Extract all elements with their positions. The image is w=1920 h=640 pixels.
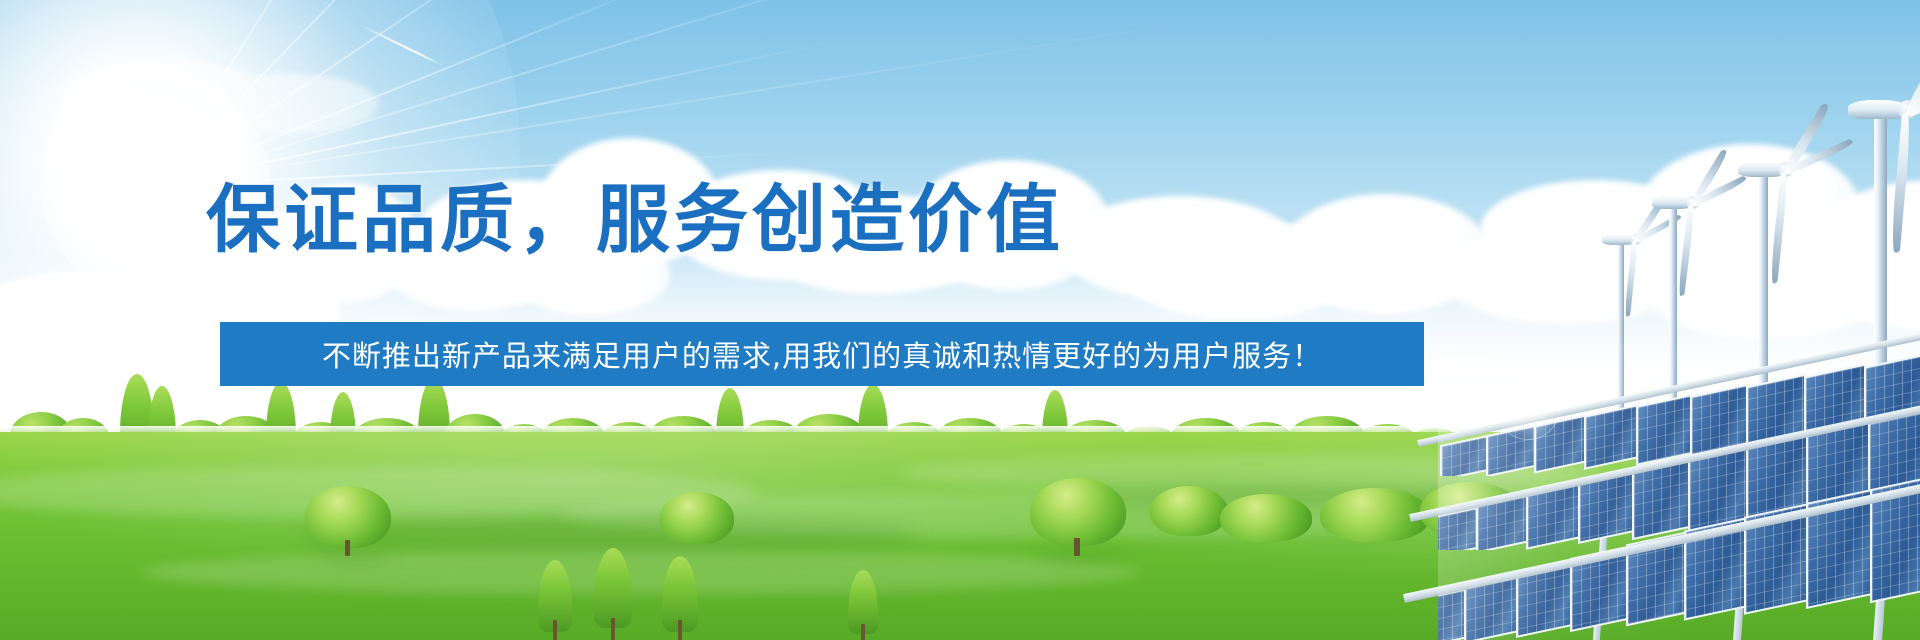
subtitle-text: 不断推出新产品来满足用户的需求,用我们的真诚和热情更好的为用户服务！ [322, 333, 1322, 375]
field-shrub [1220, 494, 1312, 542]
subtitle-bar: 不断推出新产品来满足用户的需求,用我们的真诚和热情更好的为用户服务！ [220, 322, 1424, 386]
field-tree-trunk [345, 540, 350, 556]
grass-field [0, 432, 1920, 640]
field-tree [305, 486, 391, 548]
sapling-trunk [678, 620, 682, 640]
sapling-trunk [553, 620, 557, 640]
hero-banner: 保证品质，服务创造价值 不断推出新产品来满足用户的需求,用我们的真诚和热情更好的… [0, 0, 1920, 640]
field-shrub [660, 492, 734, 544]
field-shrub [1420, 482, 1520, 538]
field-tree [1030, 478, 1126, 546]
sapling-trunk [861, 624, 865, 640]
page-title: 保证品质，服务创造价值 [0, 160, 1270, 267]
sapling-trunk [611, 618, 615, 640]
field-shrub [1320, 488, 1430, 542]
field-tree-trunk [1074, 538, 1080, 556]
field-shrub [1150, 486, 1228, 536]
